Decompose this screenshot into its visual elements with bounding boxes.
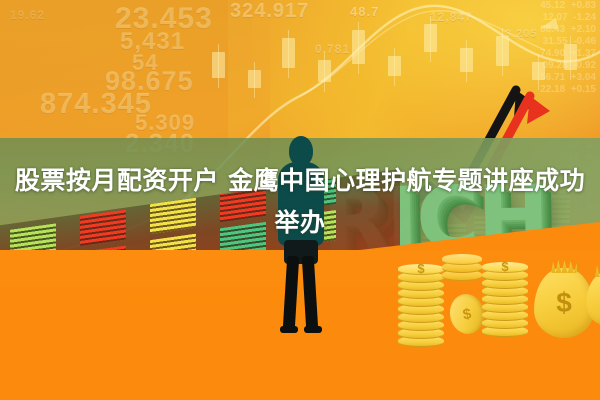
silhouette-leg-right bbox=[302, 256, 318, 331]
dollar-symbol: $ bbox=[556, 287, 572, 319]
page-title: 股票按月配资开户 金鹰中国心理护航专题讲座成功举办 bbox=[0, 160, 600, 244]
silhouette-foot-right bbox=[304, 326, 322, 333]
dollar-symbol: $ bbox=[482, 261, 528, 272]
money-bag-1: $ bbox=[534, 268, 594, 338]
dollar-symbol: $ bbox=[398, 263, 444, 274]
silhouette-leg-left bbox=[283, 256, 299, 331]
coin-stack-1: $ bbox=[398, 262, 444, 348]
silhouette-foot-left bbox=[280, 326, 298, 333]
article-banner-image: 23.453 5,431 54 98.675 874.345 5.309 2.3… bbox=[0, 0, 600, 400]
coin-stack-2: $ bbox=[482, 258, 528, 338]
coin-stack-3 bbox=[442, 252, 482, 282]
